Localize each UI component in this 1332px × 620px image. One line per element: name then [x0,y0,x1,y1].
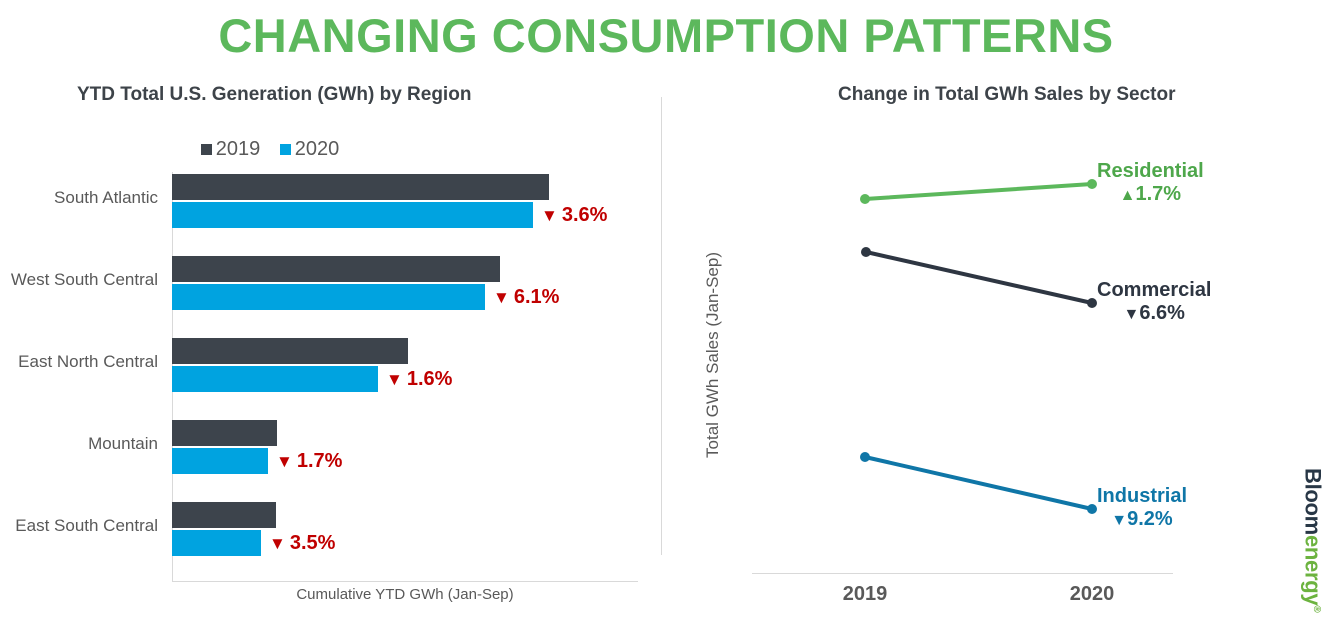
bar-group: ▼6.1% West South Central [172,256,642,318]
slope-chart-plot-area [660,110,1332,580]
bloom-energy-logo: Bloomenergy® [1302,468,1330,608]
bar-delta-label: ▼3.5% [269,530,335,556]
triangle-down-icon: ▼ [493,288,510,307]
slope-series-name: Residential [1097,160,1204,183]
slope-delta-value: 1.7% [1135,183,1181,205]
triangle-down-icon: ▼ [1111,512,1127,529]
bar-group: ▼1.7% Mountain [172,420,642,482]
slope-series-delta: ▼9.2% [1097,508,1187,531]
bar-delta-label: ▼1.6% [386,366,452,392]
legend-item-2019[interactable]: 2019 [201,138,261,161]
bar-delta-label: ▼6.1% [493,284,559,310]
bar-chart-legend: 2019 2020 [0,138,540,161]
bar-2019[interactable] [172,420,277,446]
slope-xtick-2019: 2019 [805,583,925,606]
bar-2020[interactable] [172,202,533,228]
slope-series-name: Commercial [1097,279,1212,302]
bar-2019[interactable] [172,338,408,364]
logo-text-energy: energy [1301,535,1326,605]
legend-label-2020: 2020 [295,138,340,161]
bar-delta-label: ▼3.6% [541,202,607,228]
slope-label-commercial: Commercial ▼6.6% [1097,279,1212,325]
slope-series-name: Industrial [1097,485,1187,508]
legend-label-2019: 2019 [216,138,261,161]
bar-group: ▼1.6% East North Central [172,338,642,400]
triangle-down-icon: ▼ [386,370,403,389]
bar-delta-value: 1.6% [407,368,453,390]
triangle-down-icon: ▼ [541,206,558,225]
bar-group: ▼3.6% South Atlantic [172,174,642,236]
bar-2019[interactable] [172,256,500,282]
bar-2019[interactable] [172,502,276,528]
bar-delta-value: 3.6% [562,204,608,226]
slope-chart: Total GWh Sales (Jan-Sep) Residential ▲1… [660,110,1332,620]
bar-chart-x-axis-label: Cumulative YTD GWh (Jan-Sep) [172,586,638,603]
slope-point-2019 [861,247,871,257]
legend-swatch-icon [201,144,212,155]
slope-chart-x-axis-line [752,573,1173,574]
page-title: CHANGING CONSUMPTION PATTERNS [0,8,1332,63]
slope-point-2020 [1087,298,1097,308]
slope-series-delta: ▼6.6% [1097,302,1212,325]
slope-series-delta: ▲1.7% [1097,183,1204,206]
slope-point-2019 [860,194,870,204]
triangle-up-icon: ▲ [1120,187,1136,204]
bar-delta-value: 6.1% [514,286,560,308]
slope-series-commercial[interactable] [861,247,1097,308]
left-chart-subtitle: YTD Total U.S. Generation (GWh) by Regio… [77,84,471,106]
bar-delta-value: 3.5% [290,532,336,554]
bar-category-label: East North Central [0,352,158,372]
triangle-down-icon: ▼ [276,452,293,471]
slope-point-2020 [1087,179,1097,189]
logo-registered-icon: ® [1311,605,1322,612]
slope-series-industrial[interactable] [860,452,1097,514]
bar-category-label: Mountain [0,434,158,454]
legend-item-2020[interactable]: 2020 [280,138,340,161]
bar-category-label: South Atlantic [0,188,158,208]
triangle-down-icon: ▼ [269,534,286,553]
bar-2020[interactable] [172,530,261,556]
bar-category-label: West South Central [0,270,158,290]
slope-label-industrial: Industrial ▼9.2% [1097,485,1187,531]
right-chart-subtitle: Change in Total GWh Sales by Sector [838,84,1175,106]
bar-chart: 2019 2020 ▼3.6% South Atlantic ▼6.1% Wes… [0,110,660,610]
bar-2019[interactable] [172,174,549,200]
slope-delta-value: 9.2% [1127,508,1173,530]
bar-delta-value: 1.7% [297,450,343,472]
triangle-down-icon: ▼ [1124,306,1140,323]
slope-point-2020 [1087,504,1097,514]
bar-2020[interactable] [172,366,378,392]
bar-category-label: East South Central [0,516,158,536]
logo-text-bloom: Bloom [1301,468,1326,535]
slope-label-residential: Residential ▲1.7% [1097,160,1204,206]
bar-chart-plot-area: ▼3.6% South Atlantic ▼6.1% West South Ce… [172,172,642,582]
slope-series-residential[interactable] [860,179,1097,204]
slope-delta-value: 6.6% [1139,302,1185,324]
bar-2020[interactable] [172,448,268,474]
bar-delta-label: ▼1.7% [276,448,342,474]
bar-2020[interactable] [172,284,485,310]
bar-group: ▼3.5% East South Central [172,502,642,564]
slope-xtick-2020: 2020 [1032,583,1152,606]
slope-point-2019 [860,452,870,462]
legend-swatch-icon [280,144,291,155]
